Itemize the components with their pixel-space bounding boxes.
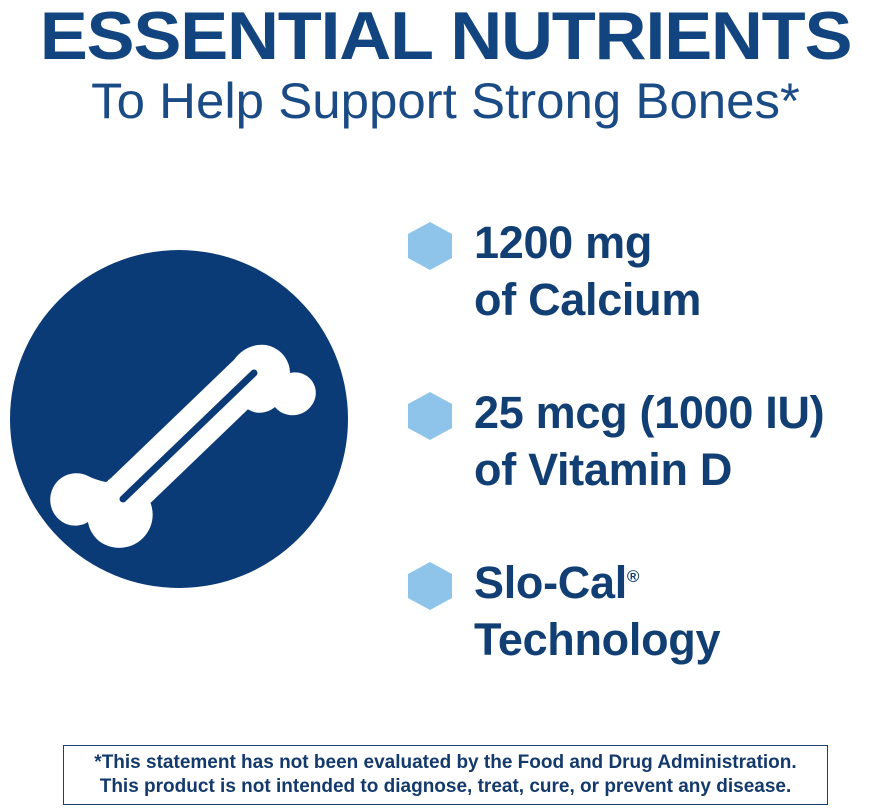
bone-icon (10, 250, 348, 588)
list-item: 25 mcg (1000 IU) of Vitamin D (408, 384, 878, 498)
list-item-line-1: Slo-Cal® (474, 554, 720, 611)
list-item-line-2: Technology (474, 611, 720, 668)
disclaimer-text: *This statement has not been evaluated b… (94, 751, 796, 799)
registered-trademark-icon: ® (627, 567, 640, 586)
list-item-line-2: of Vitamin D (474, 441, 824, 498)
list-item-line-2: of Calcium (474, 271, 701, 328)
list-item: Slo-Cal® Technology (408, 554, 878, 668)
list-item-line-1: 1200 mg (474, 214, 701, 271)
hexagon-bullet-icon (408, 562, 452, 610)
list-item: 1200 mg of Calcium (408, 214, 878, 328)
disclaimer-line-1: *This statement has not been evaluated b… (94, 751, 796, 775)
nutrient-list: 1200 mg of Calcium 25 mcg (1000 IU) of V… (408, 214, 878, 668)
hexagon-bullet-icon (408, 222, 452, 270)
brand-name: Slo-Cal (474, 557, 627, 608)
page-subtitle: To Help Support Strong Bones* (0, 72, 891, 130)
list-item-text: Slo-Cal® Technology (474, 554, 720, 668)
page-title: ESSENTIAL NUTRIENTS (0, 0, 891, 72)
hexagon-bullet-icon (408, 392, 452, 440)
list-item-line-1: 25 mcg (1000 IU) (474, 384, 824, 441)
list-item-text: 1200 mg of Calcium (474, 214, 701, 328)
bone-badge (10, 250, 348, 588)
badge-circle (10, 250, 348, 588)
disclaimer-box: *This statement has not been evaluated b… (63, 745, 828, 805)
list-item-text: 25 mcg (1000 IU) of Vitamin D (474, 384, 824, 498)
header: ESSENTIAL NUTRIENTS To Help Support Stro… (0, 0, 891, 130)
disclaimer-line-2: This product is not intended to diagnose… (94, 775, 796, 799)
